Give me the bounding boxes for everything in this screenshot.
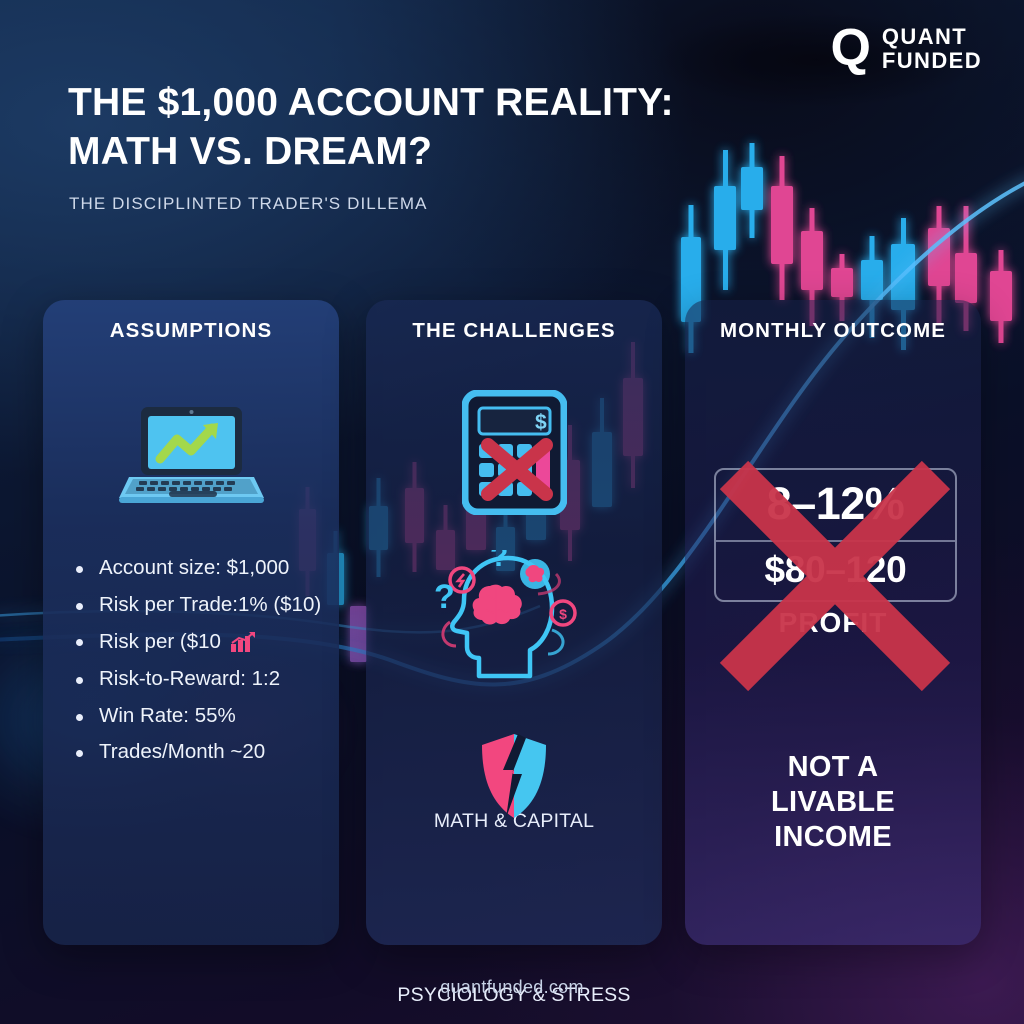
verdict-line1: NOT A: [685, 750, 981, 785]
svg-text:?: ?: [490, 550, 508, 573]
brand-wordmark: QUANT FUNDED: [882, 25, 982, 72]
page-subtitle: THE DISCIPLINTED TRADER'S DILLEMA: [69, 194, 428, 214]
list-item: Account size: $1,000: [67, 558, 335, 579]
card-assumptions: ASSUMPTIONS: [43, 300, 339, 945]
assumption-text: Risk-to-Reward: 1:2: [99, 667, 280, 690]
assumption-text: Risk per ($10: [99, 630, 221, 653]
svg-text:?: ?: [434, 578, 455, 616]
brand-name-line2: FUNDED: [882, 49, 982, 72]
verdict-line3: INCOME: [685, 820, 981, 855]
card-challenges-heading: THE CHALLENGES: [366, 319, 662, 343]
page-title: THE $1,000 ACCOUNT REALITY: MATH VS. DRE…: [68, 78, 708, 176]
laptop-growth-icon: [119, 403, 264, 508]
outcome-verdict: NOT A LIVABLE INCOME: [685, 750, 981, 854]
card-outcome-heading: MONTHLY OUTCOME: [685, 319, 981, 343]
verdict-line2: LIVABLE: [685, 785, 981, 820]
bar-chart-arrow-icon: [229, 631, 259, 653]
list-item: Trades/Month ~20: [67, 742, 335, 763]
assumption-text: Risk per Trade:1% ($10): [99, 593, 321, 616]
head-brain-icon: $ ? ?: [412, 550, 617, 685]
assumption-text: Trades/Month ~20: [99, 740, 265, 763]
svg-text:$: $: [535, 411, 547, 434]
list-item: Risk per ($10: [67, 631, 335, 653]
calculator-crossed-icon: $: [462, 390, 567, 515]
footer-website[interactable]: quantfunded.com: [0, 977, 1024, 998]
cracked-shield-icon: [478, 732, 550, 820]
red-x-icon: [700, 455, 970, 705]
assumptions-list: Account size: $1,000 Risk per Trade:1% (…: [67, 558, 335, 779]
infographic-canvas: Q QUANT FUNDED THE $1,000 ACCOUNT REALIT…: [0, 0, 1024, 1024]
brand-name-line1: QUANT: [882, 25, 982, 48]
assumption-text: Account size: $1,000: [99, 556, 289, 579]
list-item: Risk-to-Reward: 1:2: [67, 669, 335, 690]
assumption-text: Win Rate: 55%: [99, 704, 236, 727]
card-challenges: THE CHALLENGES $ MATH & C: [366, 300, 662, 945]
card-assumptions-heading: ASSUMPTIONS: [43, 319, 339, 343]
quant-q-mark-icon: Q: [830, 24, 868, 73]
list-item: Win Rate: 55%: [67, 706, 335, 727]
page-title-line2: MATH VS. DREAM?: [68, 127, 708, 176]
list-item: Risk per Trade:1% ($10): [67, 595, 335, 616]
svg-text:$: $: [559, 606, 567, 622]
brand-logo[interactable]: Q QUANT FUNDED: [830, 24, 982, 73]
page-title-line1: THE $1,000 ACCOUNT REALITY:: [68, 78, 708, 127]
